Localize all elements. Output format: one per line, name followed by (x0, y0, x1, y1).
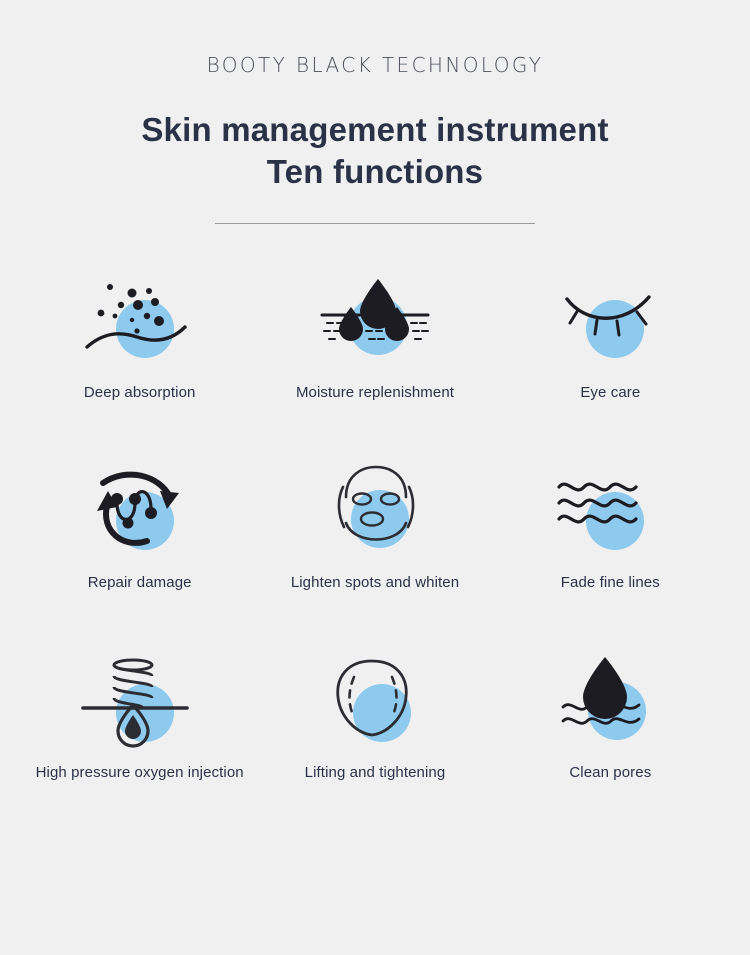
feature-label: Fade fine lines (561, 574, 660, 591)
feature-label: Lifting and tightening (305, 764, 446, 781)
particles-absorbing-icon (65, 268, 215, 378)
water-droplets-skin-icon (300, 268, 450, 378)
feature-item-lighten-spots: Lighten spots and whiten (257, 458, 492, 648)
face-outline-dashed-icon (300, 648, 450, 758)
feature-item-lifting-tightening: Lifting and tightening (257, 648, 492, 838)
wavy-lines-icon (535, 458, 685, 568)
droplet-waves-icon (535, 648, 685, 758)
feature-label: Moisture replenishment (296, 384, 454, 401)
spring-coil-droplet-icon (65, 648, 215, 758)
feature-grid: Deep absorption (0, 268, 750, 838)
feature-label: Clean pores (569, 764, 651, 781)
feature-label: Deep absorption (84, 384, 196, 401)
feature-label: High pressure oxygen injection (36, 764, 244, 781)
feature-item-eye-care: Eye care (493, 268, 728, 458)
feature-item-clean-pores: Clean pores (493, 648, 728, 838)
feature-item-fade-fine-lines: Fade fine lines (493, 458, 728, 648)
cycle-arrows-molecule-icon (65, 458, 215, 568)
feature-item-moisture-replenishment: Moisture replenishment (257, 268, 492, 458)
title-divider (215, 223, 535, 224)
page-title: Skin management instrument Ten functions (0, 109, 750, 193)
feature-label: Lighten spots and whiten (291, 574, 459, 591)
face-mask-icon (300, 458, 450, 568)
title-line-1: Skin management instrument (0, 109, 750, 151)
feature-item-oxygen-injection: High pressure oxygen injection (22, 648, 257, 838)
poster-root: BOOTY BLACK TECHNOLOGY Skin management i… (0, 55, 750, 955)
eyebrow-text: BOOTY BLACK TECHNOLOGY (0, 55, 750, 75)
closed-eye-icon (535, 268, 685, 378)
feature-label: Eye care (580, 384, 640, 401)
feature-label: Repair damage (88, 574, 192, 591)
feature-item-deep-absorption: Deep absorption (22, 268, 257, 458)
feature-item-repair-damage: Repair damage (22, 458, 257, 648)
title-line-2: Ten functions (0, 151, 750, 193)
